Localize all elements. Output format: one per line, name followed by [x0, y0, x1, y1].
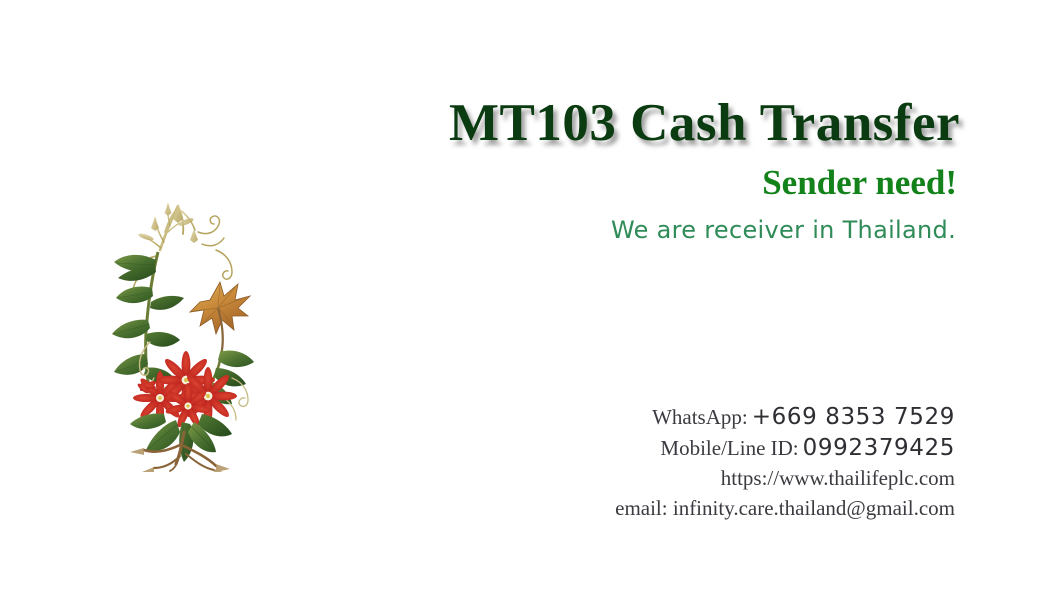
whatsapp-number[interactable]: +669 8353 7529: [752, 404, 955, 430]
whatsapp-label: WhatsApp:: [652, 405, 748, 429]
subtitle-sender-need: Sender need!: [240, 165, 960, 202]
tagline-receiver-thailand: We are receiver in Thailand.: [240, 218, 960, 243]
email-label: email:: [615, 496, 667, 520]
contact-line-website: https://www.thailifeplc.com: [420, 466, 955, 491]
contact-details-block: WhatsApp: +669 8353 7529 Mobile/Line ID:…: [420, 404, 955, 521]
mobile-line-id-label: Mobile/Line ID:: [660, 436, 798, 460]
headline-block: MT103 Cash Transfer Sender need! We are …: [240, 96, 960, 243]
contact-line-whatsapp: WhatsApp: +669 8353 7529: [420, 404, 955, 430]
business-card-canvas: MT103 Cash Transfer Sender need! We are …: [0, 0, 1063, 600]
email-address[interactable]: infinity.care.thailand@gmail.com: [673, 496, 955, 520]
mobile-line-id-number[interactable]: 0992379425: [803, 435, 955, 461]
contact-line-mobile: Mobile/Line ID: 0992379425: [420, 435, 955, 461]
website-url[interactable]: https://www.thailifeplc.com: [721, 466, 955, 490]
page-title: MT103 Cash Transfer: [240, 96, 960, 151]
contact-line-email: email: infinity.care.thailand@gmail.com: [420, 496, 955, 521]
